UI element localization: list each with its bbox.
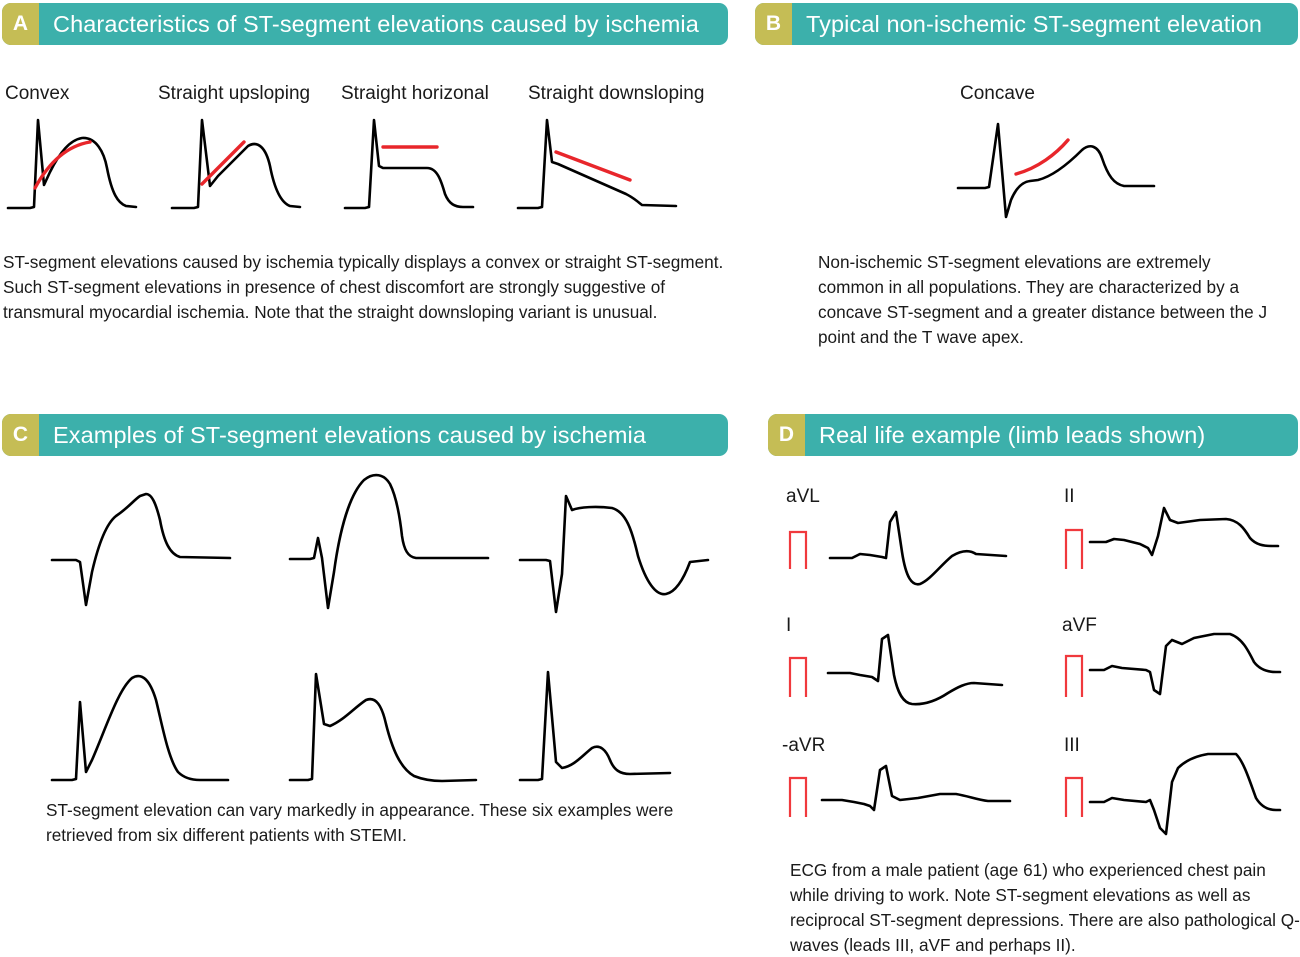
figure-root: A Characteristics of ST-segment elevatio… xyxy=(0,0,1300,957)
calibration-pulse-iii xyxy=(1064,775,1090,817)
panel-b-badge: B xyxy=(755,3,792,45)
panel-d: D Real life example (limb leads shown) xyxy=(768,414,1298,456)
panel-a: A Characteristics of ST-segment elevatio… xyxy=(2,3,728,45)
panel-a-title: Characteristics of ST-segment elevations… xyxy=(39,3,699,45)
panel-b-caption: Non-ischemic ST-segment elevations are e… xyxy=(818,250,1273,350)
ecg-example-3 xyxy=(520,462,710,617)
panel-a-caption: ST-segment elevations caused by ischemia… xyxy=(3,250,731,325)
calibration-pulse-i xyxy=(788,655,814,697)
ecg-lead-ii xyxy=(1090,498,1280,578)
calibration-pulse-avf xyxy=(1064,653,1090,697)
panel-c-title: Examples of ST-segment elevations caused… xyxy=(39,414,646,456)
ecg-lead-avf xyxy=(1090,620,1282,708)
lead-label-i: I xyxy=(786,615,791,637)
lead-label-minus-avr: -aVR xyxy=(782,735,825,757)
ecg-example-6 xyxy=(520,662,690,792)
panel-b-header: B Typical non-ischemic ST-segment elevat… xyxy=(755,3,1298,45)
panel-c-header: C Examples of ST-segment elevations caus… xyxy=(2,414,728,456)
ecg-straight-downsloping xyxy=(518,110,678,215)
calibration-pulse-minus-avr xyxy=(788,775,814,817)
wave-label-straight-horizonal: Straight horizonal xyxy=(341,83,489,105)
panel-a-badge: A xyxy=(2,3,39,45)
ecg-lead-i xyxy=(828,625,1008,715)
wave-label-concave: Concave xyxy=(960,83,1035,105)
panel-c-badge: C xyxy=(2,414,39,456)
calibration-pulse-avl xyxy=(788,529,814,569)
panel-d-title: Real life example (limb leads shown) xyxy=(805,414,1205,456)
ecg-example-1 xyxy=(52,462,237,612)
ecg-example-2 xyxy=(290,462,490,612)
panel-d-caption: ECG from a male patient (age 61) who exp… xyxy=(790,858,1300,957)
panel-c-caption: ST-segment elevation can vary markedly i… xyxy=(46,798,686,848)
ecg-concave xyxy=(958,112,1158,224)
panel-c: C Examples of ST-segment elevations caus… xyxy=(2,414,728,456)
ecg-lead-avl xyxy=(830,500,1010,590)
lead-label-iii: III xyxy=(1064,735,1080,757)
wave-label-convex: Convex xyxy=(5,83,69,105)
ecg-example-4 xyxy=(52,662,232,792)
ecg-example-5 xyxy=(290,662,480,792)
panel-a-header: A Characteristics of ST-segment elevatio… xyxy=(2,3,728,45)
panel-d-header: D Real life example (limb leads shown) xyxy=(768,414,1298,456)
ecg-lead-minus-avr xyxy=(822,752,1012,822)
ecg-straight-upsloping xyxy=(172,110,302,215)
panel-b: B Typical non-ischemic ST-segment elevat… xyxy=(755,3,1298,45)
lead-label-avl: aVL xyxy=(786,486,820,508)
lead-label-ii: II xyxy=(1064,486,1075,508)
calibration-pulse-ii xyxy=(1064,527,1090,569)
wave-label-straight-upsloping: Straight upsloping xyxy=(158,83,310,105)
ecg-convex xyxy=(8,110,138,215)
panel-b-title: Typical non-ischemic ST-segment elevatio… xyxy=(792,3,1262,45)
ecg-lead-iii xyxy=(1090,740,1282,840)
wave-label-straight-downsloping: Straight downsloping xyxy=(528,83,704,105)
ecg-straight-horizonal xyxy=(345,110,475,215)
panel-d-badge: D xyxy=(768,414,805,456)
